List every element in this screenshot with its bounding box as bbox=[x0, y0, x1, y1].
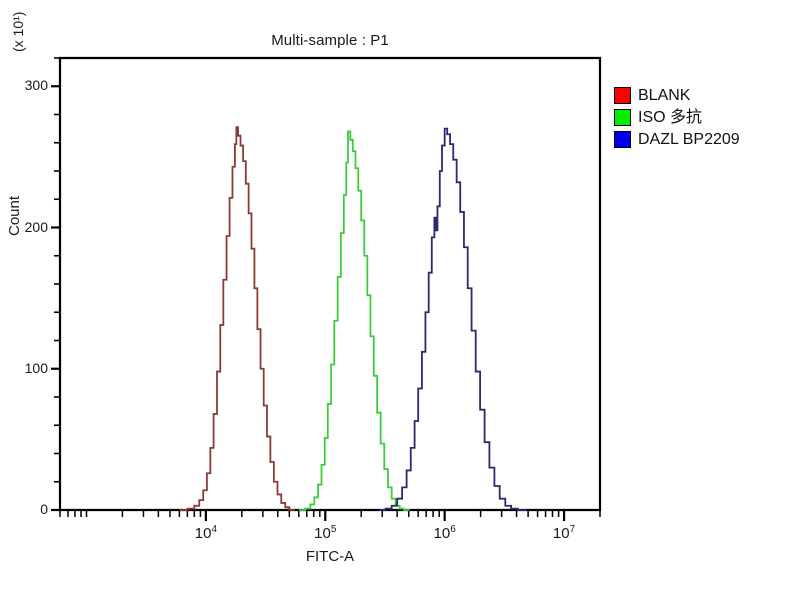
legend-item[interactable]: DAZL BP2209 bbox=[614, 130, 740, 149]
y-tick-label: 100 bbox=[8, 360, 48, 376]
y-tick-label: 200 bbox=[8, 219, 48, 235]
x-tick-label: 104 bbox=[195, 525, 217, 542]
flow-cytometry-chart: Multi-sample : P1 (x 10¹) Count FITC-A 0… bbox=[0, 0, 800, 600]
legend-item[interactable]: BLANK bbox=[614, 86, 740, 105]
legend-color-swatch bbox=[614, 109, 631, 126]
histogram-curve bbox=[379, 129, 526, 510]
x-tick-label: 106 bbox=[434, 525, 456, 542]
x-tick-label: 107 bbox=[553, 525, 575, 542]
legend-label: BLANK bbox=[638, 86, 690, 105]
chart-legend: BLANKISO 多抗DAZL BP2209 bbox=[614, 86, 740, 149]
legend-item[interactable]: ISO 多抗 bbox=[614, 108, 740, 127]
y-tick-label: 300 bbox=[8, 77, 48, 93]
data-curves bbox=[179, 127, 526, 510]
legend-color-swatch bbox=[614, 131, 631, 148]
legend-label: ISO 多抗 bbox=[638, 108, 702, 127]
x-tick-label: 105 bbox=[314, 525, 336, 542]
legend-color-swatch bbox=[614, 87, 631, 104]
plot-frame bbox=[60, 58, 600, 510]
histogram-curve bbox=[299, 131, 410, 510]
legend-label: DAZL BP2209 bbox=[638, 130, 740, 149]
y-tick-label: 0 bbox=[8, 501, 48, 517]
histogram-curve bbox=[179, 127, 295, 510]
